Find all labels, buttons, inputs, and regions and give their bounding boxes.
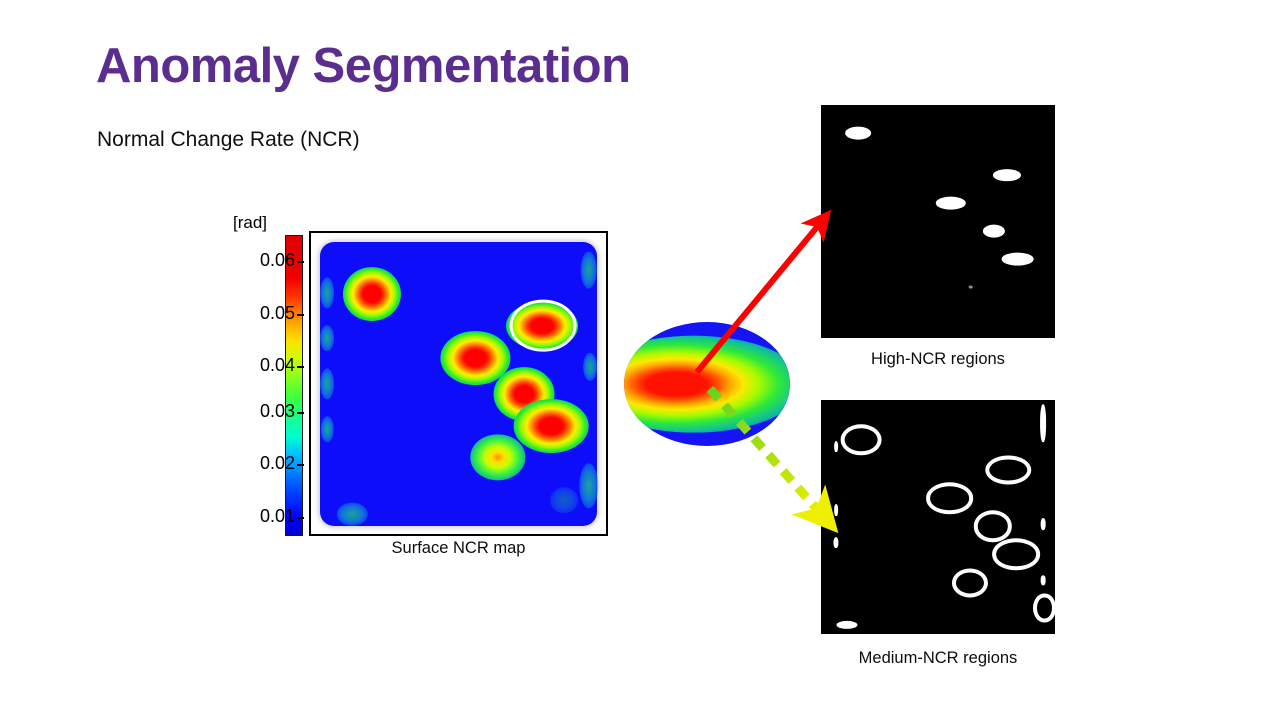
mask-edge-artifact [1041, 518, 1046, 530]
edge-artifact [320, 277, 334, 308]
mask-region [993, 169, 1021, 181]
ncr-hotspot [343, 268, 401, 322]
surface-ncr-map [309, 231, 608, 536]
mask-region [983, 224, 1005, 237]
page-subtitle: Normal Change Rate (NCR) [97, 128, 360, 152]
medium-ncr-mask-image [821, 400, 1055, 634]
slide-canvas: { "slide": { "title": "Anomaly Segmentat… [0, 0, 1280, 720]
edge-artifact [550, 487, 578, 513]
edge-artifact [579, 463, 598, 508]
mask-edge-artifact [1040, 405, 1046, 442]
mask-region-ring [974, 511, 1012, 542]
ncr-hotspot [514, 399, 589, 453]
colorbar-tick-label: 0.03 [260, 401, 295, 422]
tick-mark-icon [297, 464, 304, 466]
mask-region [846, 127, 872, 140]
mask-region-ring [952, 568, 988, 597]
mask-region-ring [926, 483, 974, 514]
mask-edge-artifact [1033, 594, 1055, 623]
mask-region-ring [985, 456, 1030, 485]
colorbar-unit-label: [rad] [233, 213, 267, 233]
tick-mark-icon [297, 366, 304, 368]
tick-mark-icon [297, 314, 304, 316]
ncr-hotspot [493, 367, 554, 421]
mask-edge-artifact [1041, 575, 1046, 584]
caption-surface-ncr-map: Surface NCR map [309, 539, 608, 558]
ncr-hotspot [441, 331, 510, 385]
edge-artifact [583, 353, 597, 381]
mask-edge-artifact [834, 441, 838, 453]
annotation-ellipse [510, 299, 577, 352]
mask-region-ring [992, 539, 1040, 570]
ncr-hotspot-weak [470, 435, 525, 480]
colorbar-tick-label: 0.04 [260, 355, 295, 376]
caption-high-ncr: High-NCR regions [821, 350, 1055, 369]
colorbar-tick-group: 0.06 0.05 0.04 0.03 0.02 0.01 [232, 235, 304, 536]
edge-artifact [320, 326, 334, 352]
colorbar-tick-label: 0.06 [260, 250, 295, 271]
tick-mark-icon [297, 261, 304, 263]
colorbar-tick-label: 0.02 [260, 453, 295, 474]
high-ncr-mask-image [821, 105, 1055, 338]
edge-artifact [581, 252, 598, 289]
zoomed-ncr-blob [624, 322, 790, 446]
page-title: Anomaly Segmentation [96, 38, 631, 94]
mask-edge-artifact [834, 537, 839, 549]
mask-region-faint [968, 285, 973, 288]
mask-region-ring [840, 424, 881, 455]
corner-artifact [337, 503, 367, 526]
surface-plate [320, 242, 597, 526]
mask-edge-artifact [834, 504, 838, 516]
tick-mark-icon [297, 412, 304, 414]
mask-region [936, 196, 966, 209]
colorbar-tick-label: 0.05 [260, 303, 295, 324]
mask-region [1001, 252, 1034, 265]
zoom-blob-core [624, 336, 790, 433]
edge-artifact [321, 416, 333, 442]
mask-region [836, 621, 857, 629]
edge-artifact [320, 368, 334, 399]
tick-mark-icon [297, 517, 304, 519]
caption-medium-ncr: Medium-NCR regions [821, 649, 1055, 668]
colorbar-tick-label: 0.01 [260, 506, 295, 527]
